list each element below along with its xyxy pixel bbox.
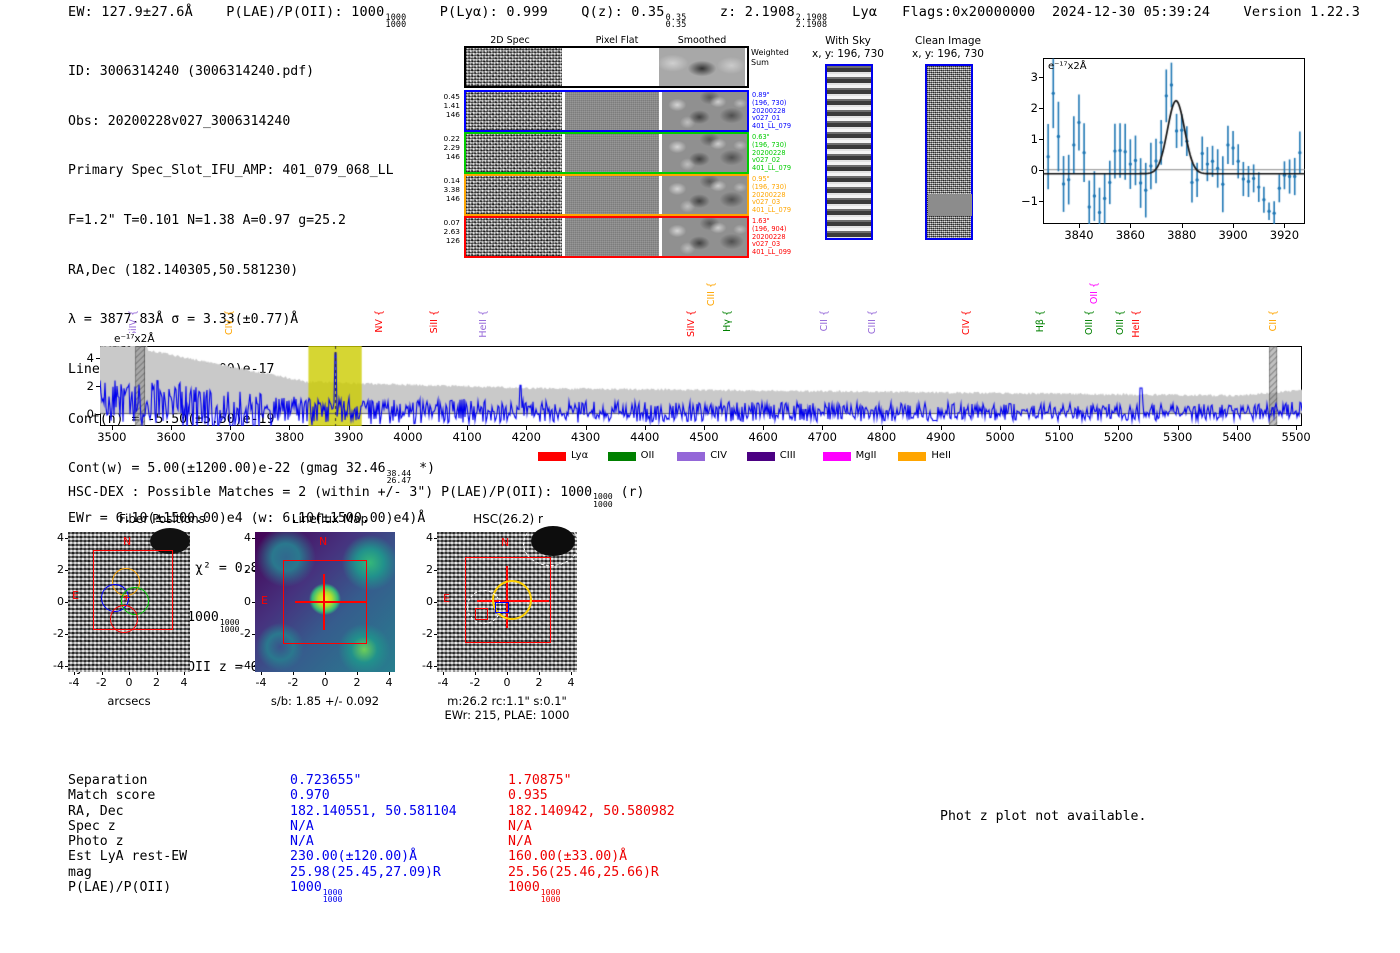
fiber-positions-ytickmark-1	[65, 570, 68, 571]
fiber-positions-ytick-1: 2	[42, 563, 64, 576]
full-spectrum-plot: e⁻¹⁷x2Å	[100, 346, 1302, 426]
fit-xtick-3880: 3880	[1160, 228, 1204, 242]
fiber-2dspec-image-0	[466, 92, 562, 130]
match-row-6: mag25.98(25.45,27.09)R25.56(25.46,25.66)…	[68, 865, 808, 880]
fiber-positions-image: + N E	[68, 532, 190, 672]
legend-swatch-CIV	[677, 452, 705, 461]
lineflux-map-ytick-3: -2	[229, 627, 251, 640]
fiber-panel-3	[464, 216, 749, 258]
hscdex-headline: HSC-DEX : Possible Matches = 2 (within +…	[68, 485, 644, 508]
hsc-r-xtickmark-4	[571, 672, 572, 675]
spec-xtick-4800: 4800	[854, 430, 910, 444]
header-flags: Flags:0x20000000	[902, 4, 1035, 20]
header-summary-line: EW: 127.9±27.6Å P(LAE)/P(OII): 100010001…	[68, 4, 1035, 29]
line-fit-plot: e⁻¹⁷x2Å	[1043, 58, 1305, 224]
fit-ytickmark--1	[1039, 201, 1043, 202]
spec-xtickmark-4500	[704, 426, 705, 430]
spec-xtick-4900: 4900	[913, 430, 969, 444]
spec-xtick-5000: 5000	[972, 430, 1028, 444]
version-label: Version 1.22.3	[1244, 4, 1361, 20]
spectrum-line-label-6: SiIV {	[686, 310, 697, 337]
spectrum-line-label-11: Hβ {	[1035, 310, 1046, 332]
fiber-meta-3: 1.63"(196, 904)20200228v027_03401_LL_099	[752, 218, 791, 257]
fiber-smoothed-image-0	[662, 92, 747, 130]
lineflux-crosshair-h	[295, 601, 367, 603]
hscdex-plae-fraction: 10001000	[593, 493, 613, 508]
fiber-2dspec-image-3	[466, 218, 562, 256]
fiber-positions-xtickmark-3	[157, 672, 158, 675]
hsc-r-xtickmark-1	[475, 672, 476, 675]
hsc-r-ytickmark-1	[434, 570, 437, 571]
spec-xtickmark-4900	[941, 426, 942, 430]
clean-image-masked-band	[928, 194, 972, 216]
spectrum-line-label-8: CII {	[819, 310, 830, 331]
clean-image-title: Clean Image	[893, 35, 1003, 47]
match-label-5: Est LyA rest-EW	[68, 849, 290, 864]
header-ew: EW: 127.9±27.6Å	[68, 4, 193, 20]
match-row-3: Spec zN/AN/A	[68, 819, 808, 834]
fiber-positions-xtick-4: 4	[164, 676, 204, 689]
match-value-blue-4: N/A	[290, 834, 508, 849]
spec-ytick-2: 2	[70, 379, 94, 393]
spec-xtickmark-4200	[526, 426, 527, 430]
hsc-r-xtickmark-0	[443, 672, 444, 675]
spectrum-line-label-7: Hγ {	[722, 310, 733, 332]
spec-xtickmark-5300	[1178, 426, 1179, 430]
fit-ytick-3: 3	[1008, 70, 1038, 84]
hsc-r-caption-1: m:26.2 rc:1.1" s:0.1"	[417, 694, 597, 708]
spec-xtick-5100: 5100	[1031, 430, 1087, 444]
spec-xtickmark-5500	[1296, 426, 1297, 430]
weighted-sum-2dspec-image	[466, 48, 562, 86]
match-row-4: Photo zN/AN/A	[68, 834, 808, 849]
fit-xtick-3900: 3900	[1211, 228, 1255, 242]
fit-ytick--1: −1	[1008, 194, 1038, 208]
spec-ytick-4: 4	[70, 351, 94, 365]
legend-label-OII: OII	[641, 450, 655, 461]
lineflux-map-panel: N E	[255, 532, 395, 672]
fiber-panel-1	[464, 132, 749, 174]
spec-xtickmark-3800	[289, 426, 290, 430]
spec-xtick-4500: 4500	[676, 430, 732, 444]
spectrum-line-label-1: CIV {	[224, 310, 235, 335]
lineflux-map-caption: s/b: 1.85 +/- 0.092	[235, 694, 415, 708]
legend-label-MgII: MgII	[856, 450, 877, 461]
spec-ytickmark-4	[96, 358, 100, 359]
weighted-sum-panel	[464, 46, 749, 88]
match-label-7: P(LAE)/P(OII)	[68, 880, 290, 895]
lineflux-map-xtickmark-2	[325, 672, 326, 675]
col-title-smoothed: Smoothed	[662, 35, 742, 46]
fiber-meta-2: 0.95"(196, 730)20200228v027_03401_LL_079	[752, 176, 791, 215]
header-timestamp-block: 2024-12-30 05:39:24 Version 1.22.3	[1052, 4, 1360, 20]
fiber-positions-xtickmark-1	[102, 672, 103, 675]
spectrum-line-label-5: CIII {	[706, 282, 717, 306]
match-label-1: Match score	[68, 788, 290, 803]
spectrum-line-label-9: CIII {	[867, 310, 878, 334]
fit-xtickmark-3920	[1284, 224, 1285, 228]
match-value-red-4: N/A	[508, 834, 808, 849]
lineflux-map-ytickmark-3	[252, 634, 255, 635]
hsc-r-ytickmark-4	[434, 666, 437, 667]
match-row-0: Separation0.723655"1.70875"	[68, 773, 808, 788]
fiber-pixelflat-image-0	[565, 92, 659, 130]
legend-label-CIV: CIV	[710, 450, 727, 461]
timestamp: 2024-12-30 05:39:24	[1052, 4, 1210, 20]
hsc-match-box-red	[475, 608, 488, 620]
fiber-smoothed-image-1	[662, 134, 747, 172]
lineflux-map-xtickmark-0	[261, 672, 262, 675]
fit-xtick-3920: 3920	[1262, 228, 1306, 242]
spec-xtick-5200: 5200	[1090, 430, 1146, 444]
spectrum-line-label-2: NV {	[374, 310, 385, 333]
fiber-meta-0: 0.89"(196, 730)20200228v027_01401_LL_079	[752, 92, 791, 131]
spec-xtick-3700: 3700	[202, 430, 258, 444]
hsc-r-ytick-4: -4	[411, 659, 433, 672]
spectrum-line-label-4: HeII {	[478, 310, 489, 338]
spec-xtick-4200: 4200	[498, 430, 554, 444]
fit-ytick-1: 1	[1008, 132, 1038, 146]
hsc-r-image: N E	[437, 532, 577, 672]
match-value-blue-1: 0.970	[290, 788, 508, 803]
photoz-note: Phot z plot not available.	[940, 809, 1146, 824]
info-obs: Obs: 20200228v027_3006314240	[68, 114, 435, 131]
spec-xtickmark-5100	[1059, 426, 1060, 430]
legend-swatch-HeII	[898, 452, 926, 461]
weighted-sum-smoothed-image	[659, 48, 745, 86]
match-value-red-2: 182.140942, 50.580982	[508, 804, 808, 819]
spec-xtickmark-3600	[171, 426, 172, 430]
clean-image-image	[925, 64, 973, 240]
fiber-2dspec-image-2	[466, 176, 562, 214]
match-label-4: Photo z	[68, 834, 290, 849]
spec-xtickmark-4400	[645, 426, 646, 430]
info-radec: RA,Dec (182.140305,50.581230)	[68, 263, 435, 280]
spec-ytickmark-2	[96, 386, 100, 387]
spec-xtickmark-4700	[822, 426, 823, 430]
info-primary-spec: Primary Spec_Slot_IFU_AMP: 401_079_068_L…	[68, 163, 435, 180]
col-title-pixelflat: Pixel Flat	[577, 35, 657, 46]
hsc-r-xtickmark-3	[539, 672, 540, 675]
lineflux-map-image: N E	[255, 532, 395, 672]
fit-ytickmark-0	[1039, 170, 1043, 171]
spectrum-line-label-3: SiII {	[429, 310, 440, 333]
spectrum-line-label-16: CII {	[1268, 310, 1279, 331]
full-spectrum-canvas	[100, 346, 1302, 426]
hsc-r-caption-2: EWr: 215, PLAE: 1000	[417, 708, 597, 722]
hsc-r-ytickmark-3	[434, 634, 437, 635]
spectrum-line-label-13: OII {	[1089, 282, 1100, 304]
lineflux-map-ytick-2: 0	[229, 595, 251, 608]
header-plae-fraction: 10001000	[385, 14, 406, 29]
full-spectrum-yunits: e⁻¹⁷x2Å	[113, 333, 156, 345]
fiber-positions-ytick-3: -2	[42, 627, 64, 640]
fit-xtickmark-3860	[1130, 224, 1131, 228]
fiber-positions-ytickmark-2	[65, 602, 68, 603]
spectrum-line-label-10: CIV {	[961, 310, 972, 335]
fiber-positions-xtickmark-4	[184, 672, 185, 675]
fiber-positions-ytickmark-0	[65, 538, 68, 539]
spec-xtick-5500: 5500	[1268, 430, 1324, 444]
spec-ytick-0: 0	[70, 407, 94, 421]
matches-table: Separation0.723655"1.70875"Match score0.…	[68, 773, 808, 895]
header-qz-label: Q(z): 0.35	[581, 4, 664, 20]
match-value-red-5: 160.00(±33.00)Å	[508, 849, 808, 864]
fit-xtick-3840: 3840	[1057, 228, 1101, 242]
match-value-blue-2: 182.140551, 50.581104	[290, 804, 508, 819]
fiber-positions-ytickmark-4	[65, 666, 68, 667]
header-z-fraction: 2.19082.1908	[796, 14, 827, 29]
match-row-1: Match score0.9700.935	[68, 788, 808, 803]
fit-xtickmark-3840	[1079, 224, 1080, 228]
legend-swatch-CIII	[747, 452, 775, 461]
match-row-7: P(LAE)/P(OII)100010001000100010001000	[68, 880, 808, 895]
header-plya: P(Lyα): 0.999	[440, 4, 548, 20]
info-seeing: F=1.2" T=0.101 N=1.38 A=0.97 g=25.2	[68, 213, 435, 230]
spec-xtick-4100: 4100	[439, 430, 495, 444]
spec-ytickmark-0	[96, 414, 100, 415]
info-cont-w: Cont(w) = 5.00(±1200.00)e-22 (gmag 32.46…	[68, 461, 435, 478]
fiber-positions-ytick-4: -4	[42, 659, 64, 672]
fiber-panel-2	[464, 174, 749, 216]
legend-swatch-OII	[608, 452, 636, 461]
with-sky-subtitle: x, y: 196, 730	[793, 48, 903, 60]
fiber-pixelflat-image-2	[565, 176, 659, 214]
fiber-2dspec-image-1	[466, 134, 562, 172]
spec-xtick-5300: 5300	[1150, 430, 1206, 444]
spec-xtickmark-5400	[1237, 426, 1238, 430]
match-value-blue-5: 230.00(±120.00)Å	[290, 849, 508, 864]
legend-label-CIII: CIII	[780, 450, 796, 461]
spectrum-line-label-14: OIII {	[1115, 310, 1126, 335]
spec-xtickmark-3700	[230, 426, 231, 430]
lineflux-map-ytickmark-2	[252, 602, 255, 603]
spec-xtickmark-4100	[467, 426, 468, 430]
match-label-0: Separation	[68, 773, 290, 788]
compass-east-hsc: E	[443, 592, 450, 605]
with-sky-title: With Sky	[793, 35, 903, 47]
spec-xtick-3800: 3800	[261, 430, 317, 444]
info-id: ID: 3006314240 (3006314240.pdf)	[68, 64, 435, 81]
fit-ytickmark-3	[1039, 77, 1043, 78]
header-z-label: z: 2.1908	[720, 4, 795, 20]
lineflux-map-ytickmark-1	[252, 570, 255, 571]
fiber-positions-ytick-0: 4	[42, 531, 64, 544]
compass-east-lineflux: E	[261, 594, 268, 607]
fiber-positions-ytick-2: 0	[42, 595, 64, 608]
fiber-positions-xtickmark-2	[129, 672, 130, 675]
spec-xtick-3600: 3600	[143, 430, 199, 444]
fiber-positions-xtickmark-0	[74, 672, 75, 675]
match-row-2: RA, Dec182.140551, 50.581104182.140942, …	[68, 804, 808, 819]
spec-xtick-3900: 3900	[321, 430, 377, 444]
compass-north-hsc: N	[501, 536, 509, 549]
fiber-positions-ytickmark-3	[65, 634, 68, 635]
gmag-fraction: 38.4426.47	[387, 470, 412, 485]
spec-xtickmark-5200	[1118, 426, 1119, 430]
panel-title-lineflux-map: Lineflux Map	[250, 512, 410, 526]
hsc-match-box-blue	[495, 602, 509, 613]
line-fit-yunits: e⁻¹⁷x2Å	[1048, 61, 1087, 72]
hsc-r-ytick-1: 2	[411, 563, 433, 576]
hsc-r-ytick-0: 4	[411, 531, 433, 544]
spec-xtickmark-5000	[1000, 426, 1001, 430]
match-value-red-7: 100010001000	[508, 880, 808, 895]
spec-xtickmark-4300	[586, 426, 587, 430]
fiber-stats-1: 0.222.29146	[424, 134, 460, 161]
col-title-2dspec: 2D Spec	[470, 35, 550, 46]
hsc-r-ytick-3: -2	[411, 627, 433, 640]
weighted-sum-label: Weighted Sum	[751, 48, 789, 67]
fiber-positions-caption: arcsecs	[68, 694, 190, 708]
lineflux-map-ytick-1: 2	[229, 563, 251, 576]
lineflux-map-ytickmark-0	[252, 538, 255, 539]
compass-north-fiber: N	[123, 535, 131, 548]
fit-xtick-3860: 3860	[1108, 228, 1152, 242]
fiber-circle-red	[110, 605, 138, 633]
lineflux-map-xtickmark-1	[293, 672, 294, 675]
spec-xtick-5400: 5400	[1209, 430, 1265, 444]
spec-xtickmark-3900	[349, 426, 350, 430]
legend-label-HeII: HeII	[931, 450, 951, 461]
spec-xtickmark-4000	[408, 426, 409, 430]
fiber-smoothed-image-2	[662, 176, 747, 214]
fit-ytickmark-1	[1039, 139, 1043, 140]
spec-xtickmark-4600	[763, 426, 764, 430]
weighted-sum-pixelflat-image	[562, 48, 659, 86]
spectrum-line-label-15: HeII {	[1131, 310, 1142, 338]
fiber-pixelflat-image-3	[565, 218, 659, 256]
fiber-panel-0	[464, 90, 749, 132]
lineflux-map-ytick-4: -4	[229, 659, 251, 672]
spec-xtick-4600: 4600	[735, 430, 791, 444]
fiber-meta-1: 0.63"(196, 730)20200228v027_02401_LL_079	[752, 134, 791, 173]
lineflux-map-xtick-4: 4	[369, 676, 409, 689]
fit-xtickmark-3900	[1233, 224, 1234, 228]
compass-east-fiber: E	[72, 589, 79, 602]
compass-north-lineflux: N	[319, 535, 327, 548]
spec-xtick-4400: 4400	[617, 430, 673, 444]
match-value-blue-7: 100010001000	[290, 880, 508, 895]
spec-xtick-4700: 4700	[794, 430, 850, 444]
spec-xtick-3500: 3500	[84, 430, 140, 444]
lineflux-map-xtickmark-3	[357, 672, 358, 675]
hsc-r-ytickmark-2	[434, 602, 437, 603]
hsc-r-panel: N E	[437, 532, 577, 672]
header-line-id: Lyα	[852, 4, 877, 20]
fiber-smoothed-image-3	[662, 218, 747, 256]
match-row-5: Est LyA rest-EW230.00(±120.00)Å160.00(±3…	[68, 849, 808, 864]
legend-swatch-Lyα	[538, 452, 566, 461]
fit-xtickmark-3880	[1182, 224, 1183, 228]
clean-image-subtitle: x, y: 196, 730	[893, 48, 1003, 60]
fit-ytickmark-2	[1039, 108, 1043, 109]
spec-xtickmark-4800	[882, 426, 883, 430]
legend-label-Lyα: Lyα	[571, 450, 588, 461]
match-value-red-1: 0.935	[508, 788, 808, 803]
panel-title-fiber-positions: Fiber Positions	[82, 512, 242, 526]
spec-xtick-4000: 4000	[380, 430, 436, 444]
lineflux-map-xtickmark-4	[389, 672, 390, 675]
match-value-red-6: 25.56(25.46,25.66)R	[508, 865, 808, 880]
match-value-blue-3: N/A	[290, 819, 508, 834]
match-value-blue-6: 25.98(25.45,27.09)R	[290, 865, 508, 880]
match-value-blue-0: 0.723655"	[290, 773, 508, 788]
fit-ytick-2: 2	[1008, 101, 1038, 115]
fiber-stats-3: 0.072.63126	[424, 218, 460, 245]
match-label-2: RA, Dec	[68, 804, 290, 819]
match-label-6: mag	[68, 865, 290, 880]
header-qz-fraction: 0.350.35	[666, 14, 687, 29]
fiber-pixelflat-image-1	[565, 134, 659, 172]
with-sky-image	[825, 64, 873, 240]
line-fit-canvas	[1043, 58, 1305, 224]
fiber-stats-2: 0.143.38146	[424, 176, 460, 203]
match-label-3: Spec z	[68, 819, 290, 834]
hsc-r-ytickmark-0	[434, 538, 437, 539]
hsc-r-xtickmark-2	[507, 672, 508, 675]
header-plae-label: P(LAE)/P(OII): 1000	[226, 4, 384, 20]
fiber-positions-panel: + N E	[68, 532, 190, 672]
lineflux-map-ytickmark-4	[252, 666, 255, 667]
lineflux-map-ytick-0: 4	[229, 531, 251, 544]
fit-ytick-0: 0	[1008, 163, 1038, 177]
hsc-r-ytick-2: 0	[411, 595, 433, 608]
match-value-red-3: N/A	[508, 819, 808, 834]
target-cross-marker: +	[123, 594, 130, 602]
spec-xtick-4300: 4300	[558, 430, 614, 444]
fiber-stats-0: 0.451.41146	[424, 92, 460, 119]
spectrum-line-label-12: OIII {	[1084, 310, 1095, 335]
hsc-r-xtick-4: 4	[551, 676, 591, 689]
legend-swatch-MgII	[823, 452, 851, 461]
spec-xtickmark-3500	[112, 426, 113, 430]
match-value-red-0: 1.70875"	[508, 773, 808, 788]
